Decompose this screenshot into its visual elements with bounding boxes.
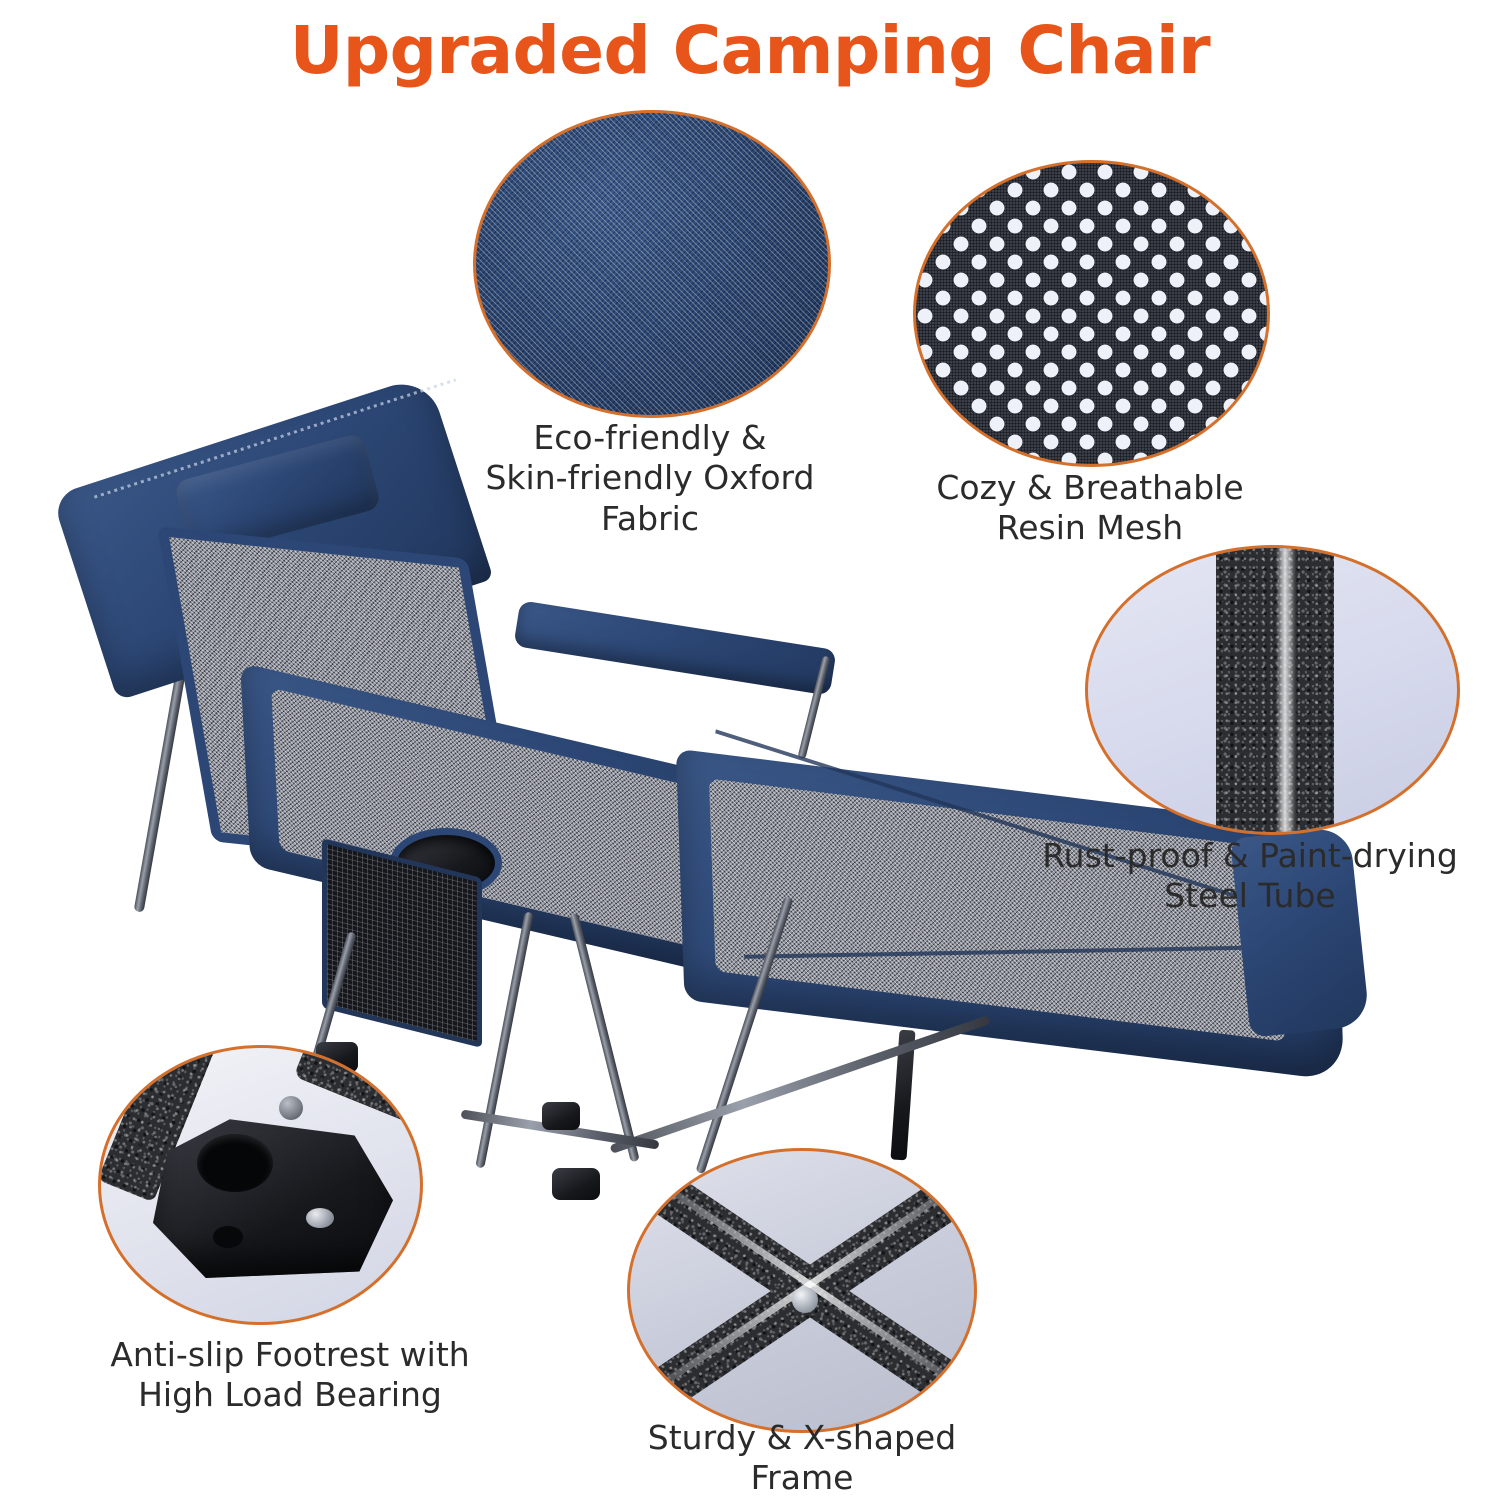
page-title: Upgraded Camping Chair bbox=[0, 12, 1500, 89]
caption-steel-tube: Rust-proof & Paint-drying Steel Tube bbox=[1000, 836, 1500, 917]
infographic-canvas: Upgraded Camping Chair bbox=[0, 0, 1500, 1500]
steel-tube-swatch bbox=[1085, 545, 1460, 835]
leg-joint-center bbox=[542, 1102, 580, 1130]
footrest-joint-block bbox=[153, 1116, 393, 1278]
caption-anti-slip-footrest: Anti-slip Footrest with High Load Bearin… bbox=[50, 1335, 530, 1416]
steel-tube-highlight bbox=[1276, 545, 1296, 835]
caption-resin-mesh: Cozy & Breathable Resin Mesh bbox=[880, 468, 1300, 549]
leg-joint-bottom bbox=[552, 1168, 600, 1200]
rear-brace-tube bbox=[609, 1015, 990, 1154]
footrest-screw-hole bbox=[213, 1226, 243, 1248]
steel-tube-specimen bbox=[1216, 545, 1334, 835]
caption-x-frame: Sturdy & X-shaped Frame bbox=[592, 1418, 1012, 1499]
oxford-fabric-swatch bbox=[473, 110, 831, 418]
x-frame-center-rivet bbox=[792, 1287, 818, 1313]
footrest-pivot-bolt bbox=[279, 1096, 303, 1120]
footrest-joint-swatch bbox=[98, 1045, 423, 1325]
caption-oxford-fabric: Eco-friendly & Skin-friendly Oxford Fabr… bbox=[440, 418, 860, 539]
resin-mesh-swatch bbox=[913, 160, 1270, 467]
cross-leg-tube-a bbox=[475, 912, 533, 1169]
footrest-rivet bbox=[306, 1208, 334, 1228]
armrest bbox=[513, 600, 836, 695]
footrest-socket-hole bbox=[197, 1134, 273, 1192]
x-frame-swatch bbox=[627, 1148, 977, 1433]
